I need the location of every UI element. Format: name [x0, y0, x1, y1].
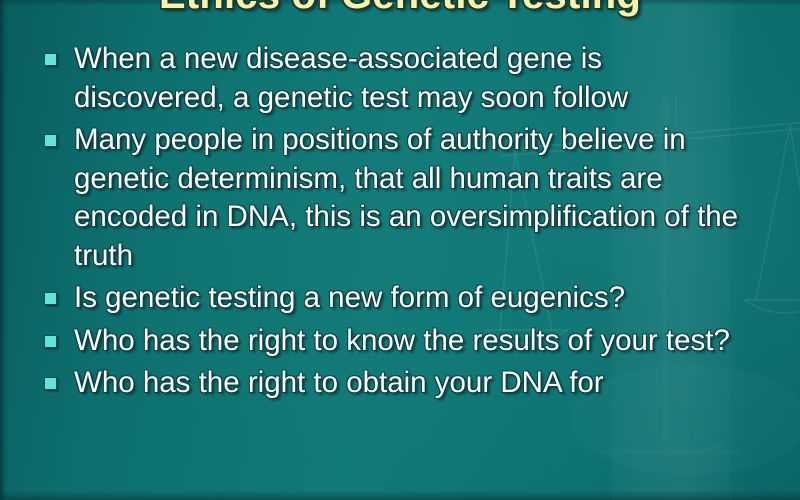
square-bullet-icon [44, 377, 57, 390]
page-title: Ethics of Genetic Testing [0, 0, 800, 19]
list-item-text: Is genetic testing a new form of eugenic… [74, 279, 758, 318]
square-bullet-icon [44, 335, 57, 348]
list-item: Is genetic testing a new form of eugenic… [0, 279, 800, 318]
square-bullet-icon [44, 53, 57, 66]
list-item: Who has the right to know the results of… [0, 322, 800, 361]
list-item-text: When a new disease-associated gene is di… [74, 40, 758, 117]
list-item-text: Who has the right to know the results of… [74, 322, 758, 361]
square-bullet-icon [44, 134, 57, 147]
list-item: Many people in positions of authority be… [0, 121, 800, 275]
slide-title-container: Ethics of Genetic Testing [0, 0, 800, 27]
slide-body-bullet-list: When a new disease-associated gene is di… [0, 40, 800, 407]
slide-edge-bottom [0, 490, 800, 500]
presentation-slide: Ethics of Genetic Testing When a new dis… [0, 0, 800, 500]
square-bullet-icon [44, 292, 57, 305]
list-item-text: Who has the right to obtain your DNA for [74, 364, 758, 403]
list-item: Who has the right to obtain your DNA for [0, 364, 800, 403]
list-item: When a new disease-associated gene is di… [0, 40, 800, 117]
list-item-text: Many people in positions of authority be… [74, 121, 758, 275]
